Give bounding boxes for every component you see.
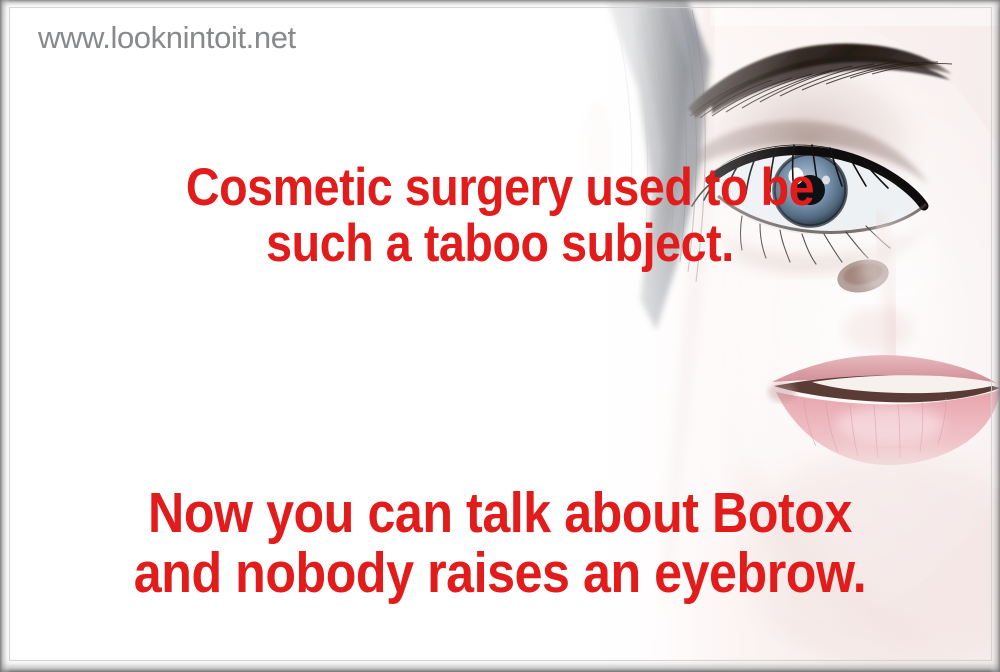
quote-bottom-line-2: and nobody raises an eyebrow. [60, 543, 940, 603]
quote-top-line-2: such a taboo subject. [60, 216, 940, 272]
quote-top-line-1: Cosmetic surgery used to be [60, 160, 940, 216]
quote-image-canvas: www.looknintoit.net Cosmetic surgery use… [0, 0, 1000, 672]
watermark-url: www.looknintoit.net [38, 20, 296, 56]
quote-top-block: Cosmetic surgery used to be such a taboo… [60, 160, 940, 272]
quote-bottom-line-1: Now you can talk about Botox [60, 483, 940, 543]
quote-bottom-block: Now you can talk about Botox and nobody … [60, 483, 940, 604]
